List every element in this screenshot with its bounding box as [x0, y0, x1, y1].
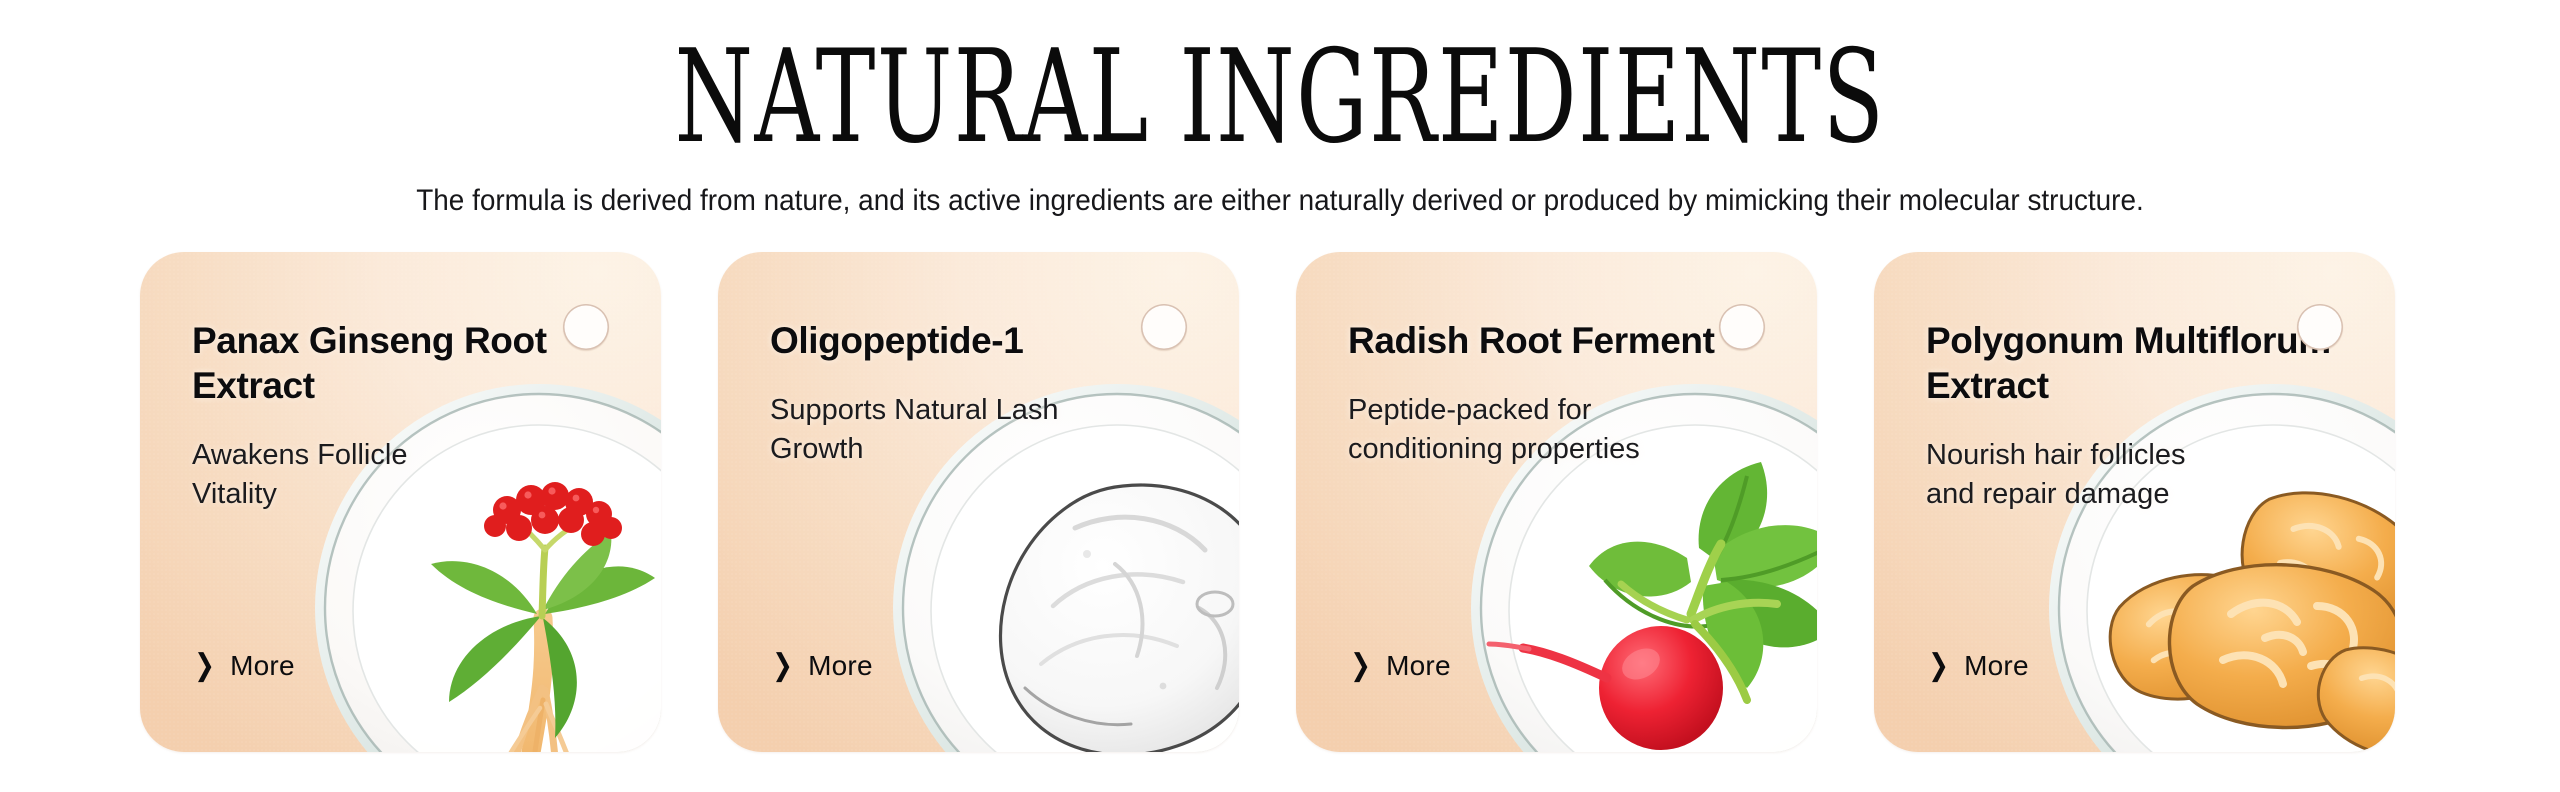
page-header: NATURAL INGREDIENTS The formula is deriv…	[0, 0, 2560, 220]
ingredient-card-list: Panax Ginseng Root Extract Awakens Folli…	[140, 252, 2430, 752]
chevron-right-icon: ❯	[772, 651, 793, 681]
more-button-label: More	[808, 650, 873, 682]
chevron-right-icon: ❯	[1350, 651, 1371, 681]
more-button[interactable]: ❯ More	[192, 650, 295, 682]
more-button-label: More	[1386, 650, 1451, 682]
more-button-label: More	[1964, 650, 2029, 682]
punch-hole-icon	[1141, 304, 1187, 350]
card-title: Polygonum Multiflorum Extract	[1926, 318, 2346, 408]
chevron-right-icon: ❯	[194, 651, 215, 681]
punch-hole-icon	[2297, 304, 2343, 350]
more-button-label: More	[230, 650, 295, 682]
card-description: Peptide-packed for conditioning properti…	[1348, 391, 1648, 469]
ingredient-card[interactable]: Oligopeptide-1 Supports Natural Lash Gro…	[718, 252, 1239, 752]
punch-hole-icon	[1719, 304, 1765, 350]
punch-hole-icon	[563, 304, 609, 350]
page-title: NATURAL INGREDIENTS	[384, 34, 2176, 162]
card-title: Radish Root Ferment	[1348, 318, 1768, 363]
more-button[interactable]: ❯ More	[1926, 650, 2029, 682]
ingredient-card[interactable]: Radish Root Ferment Peptide-packed for c…	[1296, 252, 1817, 752]
more-button[interactable]: ❯ More	[1348, 650, 1451, 682]
page-subtitle: The formula is derived from nature, and …	[90, 182, 2471, 220]
ingredients-page: NATURAL INGREDIENTS The formula is deriv…	[0, 0, 2560, 792]
card-description: Nourish hair follicles and repair damage	[1926, 436, 2226, 514]
ingredient-card[interactable]: Polygonum Multiflorum Extract Nourish ha…	[1874, 252, 2395, 752]
chevron-right-icon: ❯	[1928, 651, 1949, 681]
card-description: Supports Natural Lash Growth	[770, 391, 1070, 469]
card-description: Awakens Follicle Vitality	[192, 436, 492, 514]
card-title: Oligopeptide-1	[770, 318, 1190, 363]
ingredient-card[interactable]: Panax Ginseng Root Extract Awakens Folli…	[140, 252, 661, 752]
card-title: Panax Ginseng Root Extract	[192, 318, 612, 408]
more-button[interactable]: ❯ More	[770, 650, 873, 682]
